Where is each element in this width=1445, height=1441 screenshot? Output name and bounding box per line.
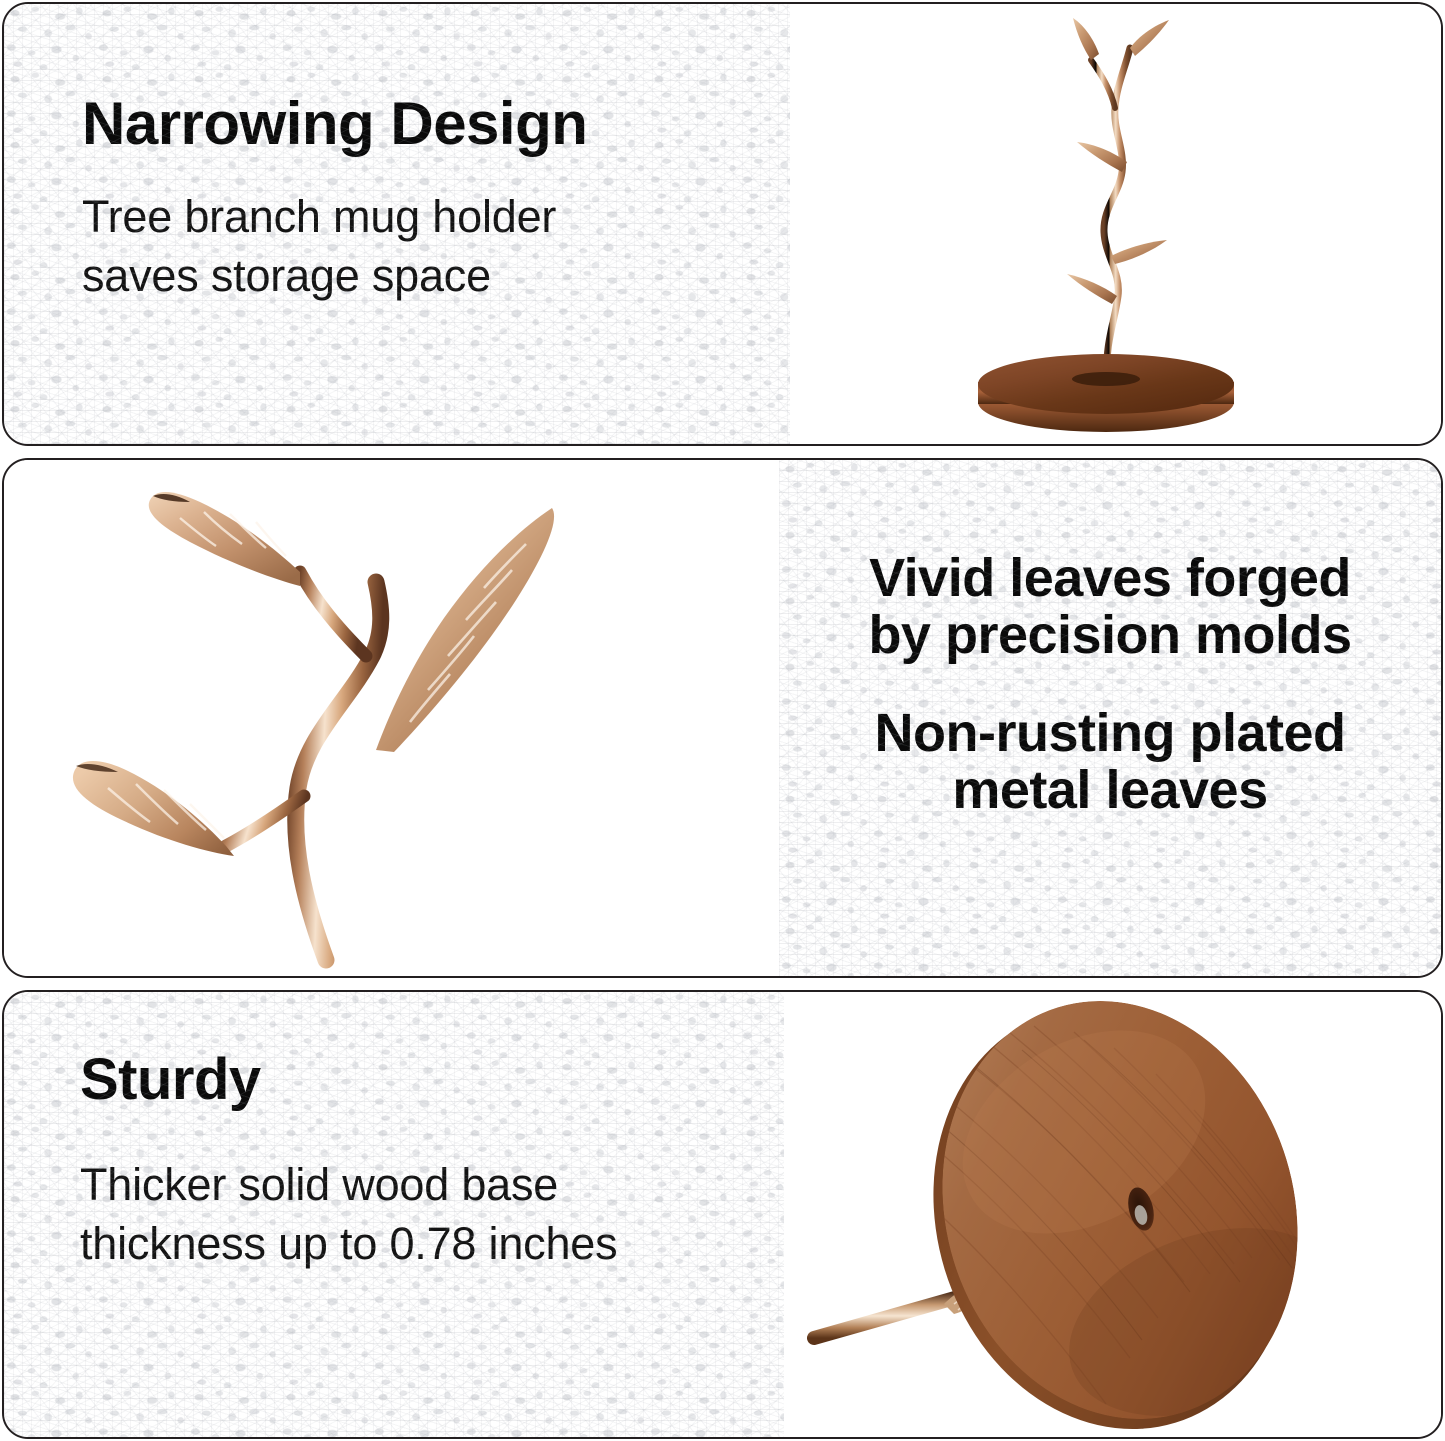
feature-card-narrowing-design: Narrowing Design Tree branch mug holder … [2,2,1443,446]
sturdy-body-line-2: thickness up to 0.78 inches [80,1214,784,1273]
mug-tree-stand-full-product-image [790,4,1441,444]
leaf-lower-left [73,761,234,856]
stem-fork [1091,60,1115,108]
feature-card-vivid-leaves: Vivid leaves forged by precision molds N… [2,458,1443,978]
narrowing-design-headline: Narrowing Design [82,92,790,155]
stem-branch-upper-left [300,572,366,656]
vivid-leaves-text-pane: Vivid leaves forged by precision molds N… [779,460,1441,976]
leaf-upper-right [376,508,554,752]
base-center-slot [1072,372,1140,386]
leaf-mid-right [1111,240,1167,264]
branch-leaves-illustration [4,460,779,976]
wood-base-illustration [784,992,1441,1437]
stem-path [1103,48,1129,376]
sturdy-body-line-1: Thicker solid wood base [80,1155,784,1214]
sturdy-headline: Sturdy [80,1050,784,1111]
leaf-top-left [1073,18,1099,60]
wood-base-closeup-image [784,992,1441,1437]
leaf-upper-left [149,492,300,586]
main-stem [296,582,381,960]
mug-tree-stand-illustration [901,4,1331,444]
sturdy-text-pane: Sturdy Thicker solid wood base thickness… [4,992,784,1437]
narrowing-design-body: Tree branch mug holder saves storage spa… [82,187,790,306]
vivid-leaves-headline-line-1: Vivid leaves forged [801,550,1419,607]
leaf-lower-left [1067,274,1117,304]
narrowing-design-text-pane: Narrowing Design Tree branch mug holder … [4,4,790,444]
feature-card-sturdy: Sturdy Thicker solid wood base thickness… [2,990,1443,1439]
branch-leaves-closeup-image [4,460,779,976]
base-face [892,992,1365,1437]
narrowing-design-body-line-2: saves storage space [82,246,790,305]
vivid-leaves-headline-line-2: by precision molds [801,607,1419,664]
narrowing-design-body-line-1: Tree branch mug holder [82,187,790,246]
sturdy-body: Thicker solid wood base thickness up to … [80,1155,784,1274]
leaf-top-right [1130,20,1169,56]
non-rusting-headline-line-2: metal leaves [801,762,1419,819]
non-rusting-headline-block: Non-rusting plated metal leaves [801,705,1419,818]
vivid-leaves-headline-block: Vivid leaves forged by precision molds [801,550,1419,663]
infographic-page: Narrowing Design Tree branch mug holder … [0,0,1445,1441]
non-rusting-headline-line-1: Non-rusting plated [801,705,1419,762]
